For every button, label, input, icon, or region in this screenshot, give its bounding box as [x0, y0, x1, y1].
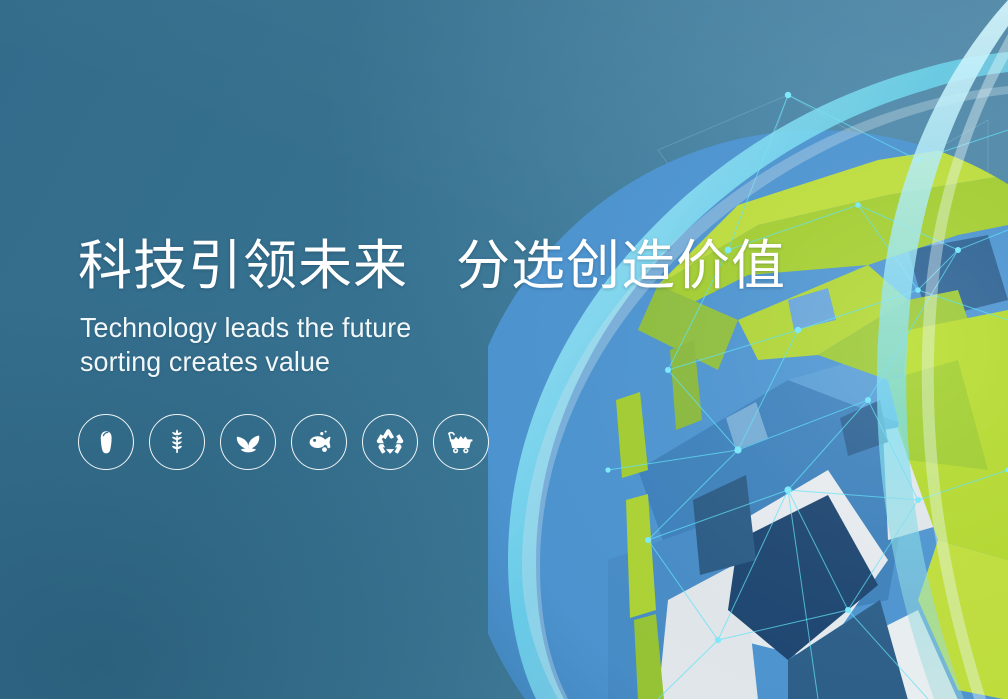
- recycle-icon: [375, 427, 405, 457]
- icon-badge-tea-leaf[interactable]: [220, 414, 276, 470]
- icon-badge-rice-grain[interactable]: [78, 414, 134, 470]
- icon-badge-mine-cart[interactable]: [433, 414, 489, 470]
- fish-icon: [303, 427, 335, 457]
- wheat-icon: [162, 427, 192, 457]
- subtitle-line-1: Technology leads the future: [80, 311, 750, 345]
- subtitle: Technology leads the future sorting crea…: [80, 311, 750, 379]
- icon-badge-fish[interactable]: [291, 414, 347, 470]
- hero-copy: 科技引领未来 分选创造价值 Technology leads the futur…: [78, 238, 778, 380]
- rice-grain-icon: [91, 427, 121, 457]
- subtitle-line-2: sorting creates value: [80, 345, 750, 379]
- icon-badge-recycle[interactable]: [362, 414, 418, 470]
- hero-banner: 科技引领未来 分选创造价值 Technology leads the futur…: [0, 0, 1008, 699]
- icon-badge-wheat[interactable]: [149, 414, 205, 470]
- industry-icon-row: [78, 414, 489, 470]
- mine-cart-icon: [445, 427, 477, 457]
- tea-leaf-icon: [232, 427, 264, 457]
- page-title: 科技引领未来 分选创造价值: [78, 238, 778, 295]
